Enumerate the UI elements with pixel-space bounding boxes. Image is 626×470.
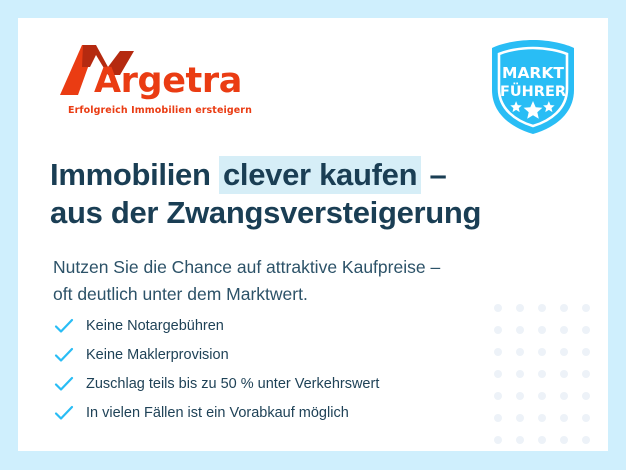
- decorative-dot: [538, 392, 546, 400]
- list-item: Keine Notargebühren: [54, 311, 534, 340]
- decorative-dot: [582, 392, 590, 400]
- check-icon: [54, 347, 80, 363]
- decorative-dot: [582, 370, 590, 378]
- promo-banner: Argetra Erfolgreich Immobilien ersteiger…: [0, 0, 626, 470]
- decorative-dot: [560, 326, 568, 334]
- list-item: Keine Maklerprovision: [54, 340, 534, 369]
- subheadline: Nutzen Sie die Chance auf attraktive Kau…: [53, 254, 573, 308]
- headline-line-1: Immobilien clever kaufen –: [50, 156, 570, 194]
- list-item: In vielen Fällen ist ein Vorabkauf mögli…: [54, 398, 534, 427]
- decorative-dot: [560, 414, 568, 422]
- decorative-dot: [560, 392, 568, 400]
- headline-highlight: clever kaufen: [219, 156, 421, 194]
- decorative-dot: [538, 370, 546, 378]
- benefit-label: Zuschlag teils bis zu 50 % unter Verkehr…: [80, 376, 379, 392]
- decorative-dot: [516, 436, 524, 444]
- decorative-dot: [582, 436, 590, 444]
- headline-suffix: –: [421, 157, 446, 192]
- decorative-dot: [582, 304, 590, 312]
- decorative-dot: [582, 326, 590, 334]
- benefit-label: Keine Notargebühren: [80, 318, 224, 334]
- list-item: Zuschlag teils bis zu 50 % unter Verkehr…: [54, 369, 534, 398]
- decorative-dot: [582, 414, 590, 422]
- check-icon: [54, 318, 80, 334]
- decorative-dot: [538, 348, 546, 356]
- badge-line1: MARKT: [502, 64, 564, 82]
- check-icon: [54, 405, 80, 421]
- benefit-list: Keine Notargebühren Keine Maklerprovisio…: [54, 311, 534, 427]
- decorative-dot: [538, 326, 546, 334]
- decorative-dot: [560, 348, 568, 356]
- benefit-label: Keine Maklerprovision: [80, 347, 229, 363]
- subheadline-line-2: oft deutlich unter dem Marktwert.: [53, 281, 573, 308]
- decorative-dot: [560, 370, 568, 378]
- headline-prefix: Immobilien: [50, 157, 219, 192]
- market-leader-badge: MARKT FÜHRER: [488, 38, 578, 136]
- headline-line-2: aus der Zwangsversteigerung: [50, 194, 570, 232]
- badge-line2: FÜHRER: [500, 82, 566, 100]
- argetra-wordmark: Argetra: [94, 61, 242, 101]
- decorative-dot: [538, 436, 546, 444]
- content-card: Argetra Erfolgreich Immobilien ersteiger…: [18, 18, 608, 451]
- benefit-label: In vielen Fällen ist ein Vorabkauf mögli…: [80, 405, 349, 421]
- decorative-dot: [582, 348, 590, 356]
- argetra-logo[interactable]: Argetra Erfolgreich Immobilien ersteiger…: [56, 43, 246, 121]
- argetra-tagline: Erfolgreich Immobilien ersteigern: [68, 105, 252, 116]
- headline: Immobilien clever kaufen – aus der Zwang…: [50, 156, 570, 232]
- decorative-dot: [560, 436, 568, 444]
- subheadline-line-1: Nutzen Sie die Chance auf attraktive Kau…: [53, 254, 573, 281]
- decorative-dot: [494, 436, 502, 444]
- check-icon: [54, 376, 80, 392]
- decorative-dot: [538, 414, 546, 422]
